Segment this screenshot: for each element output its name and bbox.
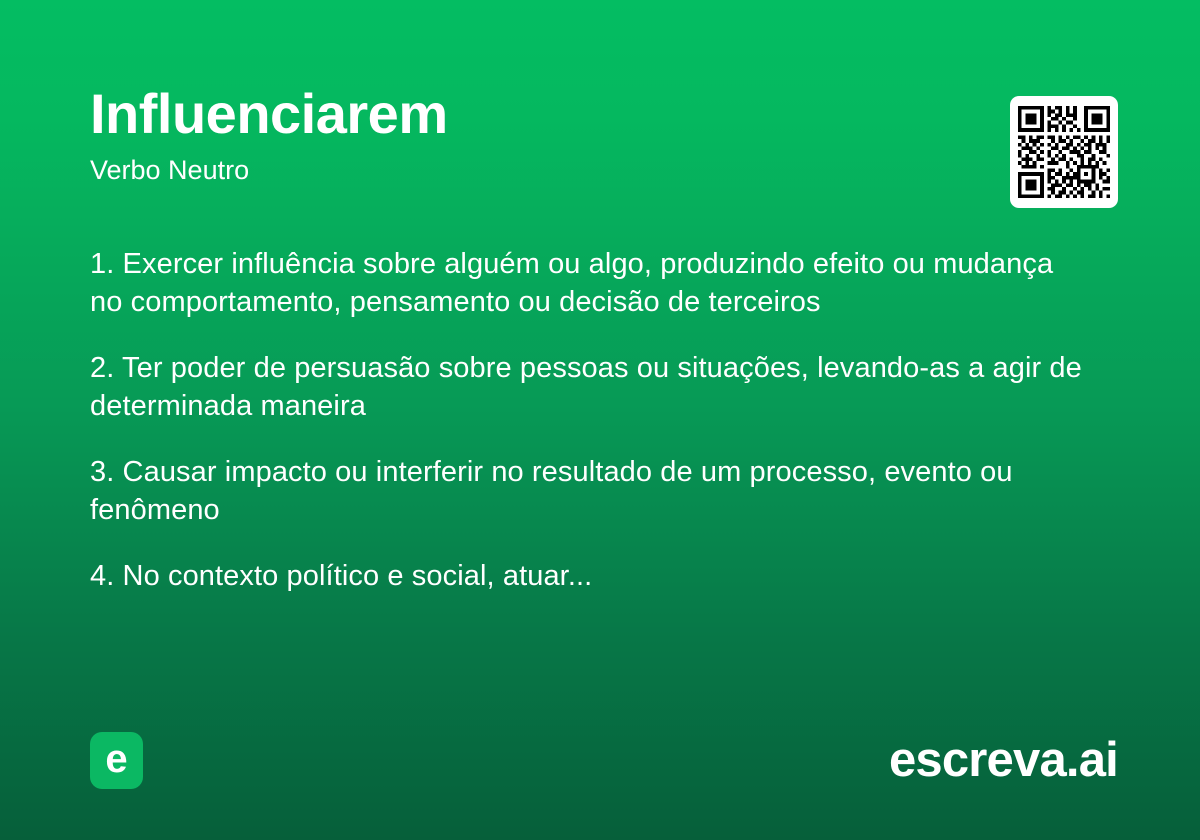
- brand-logo-letter: e: [105, 739, 127, 779]
- brand-wordmark: escreva.ai: [889, 736, 1118, 785]
- page-title: Influenciarem: [90, 86, 1110, 142]
- definition-item: 1. Exercer influência sobre alguém ou al…: [90, 246, 1090, 322]
- definition-item: 4. No contexto político e social, atuar.…: [90, 558, 1090, 596]
- card-header: Influenciarem Verbo Neutro: [90, 86, 1110, 216]
- word-class-label: Verbo Neutro: [90, 156, 1110, 186]
- card-footer: e escreva.ai: [90, 730, 1118, 790]
- definition-item: 3. Causar impacto ou interferir no resul…: [90, 454, 1090, 530]
- dictionary-card: Influenciarem Verbo Neutro: [0, 0, 1200, 840]
- brand-logo: e: [90, 732, 143, 789]
- definition-list: 1. Exercer influência sobre alguém ou al…: [90, 246, 1090, 596]
- definition-item: 2. Ter poder de persuasão sobre pessoas …: [90, 350, 1090, 426]
- qr-code[interactable]: [1010, 96, 1118, 208]
- qr-code-icon: [1018, 104, 1110, 200]
